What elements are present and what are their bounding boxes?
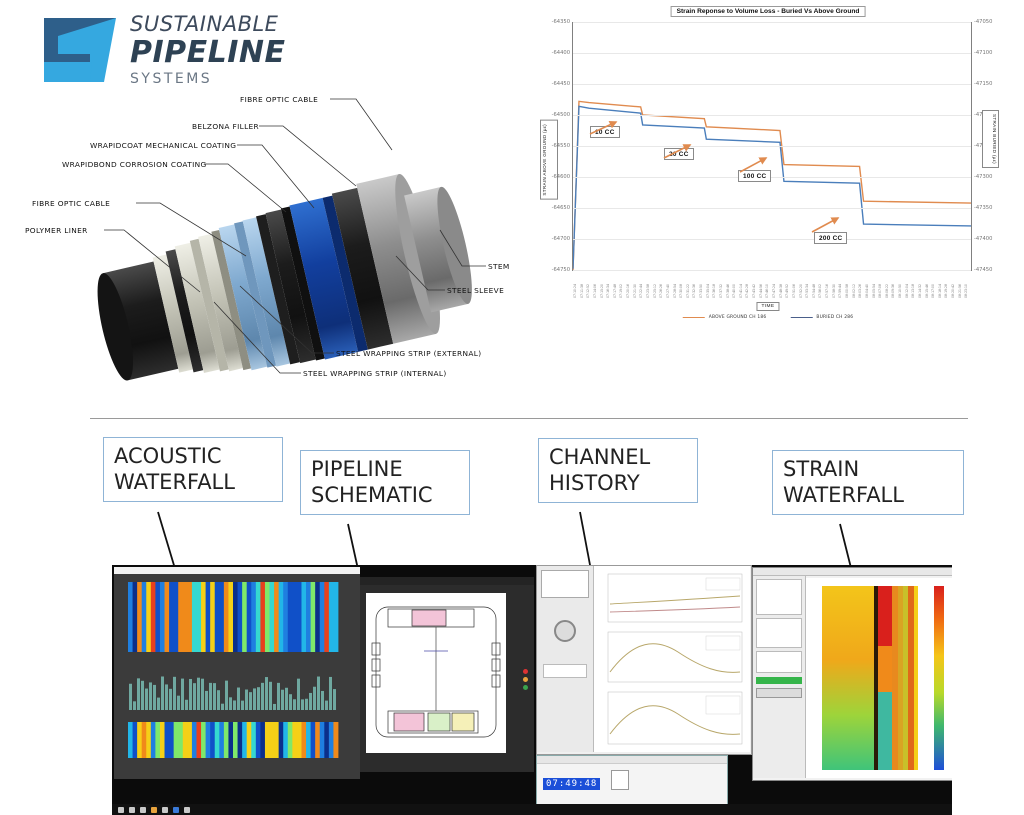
chart-x-tick: 07:16:34 [606,284,610,298]
waterfall-column [238,582,243,652]
chart-x-ticks: 07:10:2407:11:3807:12:5207:14:0607:15:20… [572,272,970,298]
acoustic-bar [325,701,328,710]
section-divider [90,418,968,419]
chart-x-tick: 07:53:34 [805,284,809,298]
chart-x-tick: 07:20:16 [626,284,630,298]
annotation-channel-history-line1: CHANNEL [549,445,687,471]
acoustic-bar [141,681,144,710]
acoustic-bar [233,700,236,710]
chart-x-tick: 07:54:48 [812,284,816,298]
chart-y-tick-left: -64650 [552,205,570,211]
waterfall-column [265,722,270,758]
waterfall-column [288,582,293,652]
pipeline-label-wrapidbond: WRAPIDBOND CORROSION COATING [62,160,207,169]
chart-y-tick-left: -64400 [552,50,570,56]
acoustic-bar [225,681,228,710]
acoustic-window-titlebar[interactable] [114,567,360,574]
chart-x-tick: 07:56:02 [818,284,822,298]
pipeline-label-wrapidcoat: WRAPIDCOAT MECHANICAL COATING [90,141,236,150]
waterfall-column [324,582,329,652]
acoustic-bar [201,679,204,710]
chart-x-tick: 08:18:14 [938,284,942,298]
waterfall-column [315,582,320,652]
waterfall-column [251,722,256,758]
chart-x-tick: 07:49:52 [785,284,789,298]
clock-display: 07:49:48 [543,778,600,790]
acoustic-bar [137,678,140,710]
waterfall-column [133,722,138,758]
chart-y-tick-right: -47050 [974,19,992,25]
waterfall-column [178,582,183,652]
waterfall-column [137,722,142,758]
legend-item-buried: BURIED CH 286 [790,315,853,320]
annotation-pipeline-schematic-line1: PIPELINE [311,457,459,483]
chart-x-axis-label: TIME [756,302,779,311]
chart-x-tick: 07:12:52 [586,284,590,298]
acoustic-bar [245,690,248,710]
chart-x-tick: 07:40:00 [732,284,736,298]
waterfall-column [270,722,275,758]
annotation-strain-waterfall-line1: STRAIN [783,457,953,483]
waterfall-column [146,722,151,758]
acoustic-bar [213,683,216,710]
waterfall-column [306,722,311,758]
waterfall-column [151,582,156,652]
acoustic-bar [333,689,336,710]
strain-window-titlebar[interactable] [753,568,952,576]
chart-x-tick: 08:23:10 [964,284,968,298]
acoustic-bar [297,679,300,710]
acoustic-bar [261,683,264,710]
annotation-channel-history: CHANNEL HISTORY [538,438,698,503]
chart-x-tick: 07:44:56 [759,284,763,298]
chart-title: Strain Reponse to Volume Loss - Buried V… [671,6,866,17]
waterfall-column [283,722,288,758]
chart-x-tick: 08:20:42 [951,284,955,298]
pipeline-label-fibre-optic-cable-top: FIBRE OPTIC CABLE [240,95,318,104]
logo-line-1: SUSTAINABLE [130,14,286,35]
acoustic-bar [161,676,164,710]
waterfall-column [324,722,329,758]
waterfall-column [174,722,179,758]
waterfall-column [142,722,147,758]
waterfall-column [215,582,220,652]
chart-x-tick: 07:30:08 [679,284,683,298]
legend-swatch-buried [790,317,812,319]
chart-y-axis-left-label: STRAIN ABOVE GROUND (µε) [540,120,558,200]
waterfall-column [242,722,247,758]
acoustic-bar [289,694,292,710]
callout-20cc: 20 CC [664,148,694,160]
chart-x-tick: 08:08:22 [885,284,889,298]
chart-y-tick-right: -47450 [974,267,992,273]
waterfall-column [183,722,188,758]
control-group-top [541,570,589,598]
channel-history-window[interactable] [536,565,752,755]
chart-x-tick: 08:00:58 [845,284,849,298]
acoustic-bar [285,688,288,710]
acoustic-bar [153,685,156,710]
acoustic-bar [129,684,132,710]
strain-response-chart: Strain Reponse to Volume Loss - Buried V… [512,0,1024,340]
acoustic-bar [269,682,272,710]
pipeline-label-steel-wrapping-internal: STEEL WRAPPING STRIP (INTERNAL) [303,369,447,378]
chart-x-tick: 07:37:32 [719,284,723,298]
logo-mark-icon [28,14,120,86]
waterfall-column [224,722,229,758]
annotation-pipeline-schematic-line2: SCHEMATIC [311,483,459,509]
chart-x-tick: 08:13:18 [911,284,915,298]
legend-swatch-above-ground [683,317,705,319]
chart-x-tick: 08:21:56 [958,284,962,298]
acoustic-bar [145,689,148,710]
schematic-window-titlebar[interactable] [360,577,534,585]
rotary-dial[interactable] [554,620,576,642]
windows-taskbar[interactable] [112,804,952,815]
chart-y-tick-right: -47150 [974,81,992,87]
waterfall-column [192,722,197,758]
waterfall-column [283,582,288,652]
waterfall-column [256,722,261,758]
annotation-acoustic-waterfall: ACOUSTIC WATERFALL [103,437,283,502]
acoustic-bar [313,687,316,710]
waterfall-column [151,722,156,758]
chart-x-tick: 07:59:44 [838,284,842,298]
waterfall-column [315,722,320,758]
chart-y-tick-left: -64550 [552,143,570,149]
chart-gridline [573,146,971,147]
legend-item-above-ground: ABOVE GROUND CH 186 [683,315,767,320]
chart-y-tick-left: -64750 [552,267,570,273]
chart-x-tick: 07:26:26 [659,284,663,298]
annotation-pipeline-schematic: PIPELINE SCHEMATIC [300,450,470,515]
waterfall-column [279,582,284,652]
chart-x-tick: 08:15:46 [925,284,929,298]
chart-gridline [573,22,971,23]
waterfall-column [187,582,192,652]
acoustic-bar [317,677,320,710]
chart-x-tick: 08:09:36 [891,284,895,298]
pid-drawing [366,593,506,753]
acoustic-bar [329,677,332,710]
acoustic-bar [273,704,276,710]
chart-plot-area [572,22,972,271]
control-group-bottom [543,664,587,678]
waterfall-column [219,582,224,652]
waterfall-column [297,582,302,652]
pipeline-label-fibre-optic-cable-lower: FIBRE OPTIC CABLE [32,199,110,208]
chart-gridline [573,115,971,116]
callout-10cc: 10 CC [590,126,620,138]
system-monitor-window[interactable]: 07:49:48 [536,755,728,805]
status-leds [523,669,528,690]
waterfall-column [333,722,338,758]
waterfall-column [215,722,220,758]
waterfall-column [228,582,233,652]
taskbar-search-icon[interactable] [129,807,135,813]
acoustic-bar [209,683,212,710]
chart-legend: ABOVE GROUND CH 186 BURIED CH 286 [683,315,854,320]
pipeline-label-steel-wrapping-external: STEEL WRAPPING STRIP (EXTERNAL) [336,349,481,358]
waterfall-column [192,582,197,652]
waterfall-column [210,582,215,652]
chart-x-tick: 07:38:46 [726,284,730,298]
logo-wordmark: SUSTAINABLE PIPELINE SYSTEMS [130,14,286,87]
taskbar-app-icon-2[interactable] [162,807,168,813]
chart-y-tick-left: -64450 [552,81,570,87]
logo-line-3: SYSTEMS [130,71,286,87]
led-green [523,685,528,690]
pipeline-label-steel-sleeve: STEEL SLEEVE [447,286,504,295]
waterfall-column [206,582,211,652]
waterfall-column [333,582,338,652]
chart-x-tick: 08:04:40 [865,284,869,298]
pipeline-cutaway-diagram: FIBRE OPTIC CABLE BELZONA FILLER WRAPIDC… [0,88,512,398]
chart-y-axis-right-label-wrap: STRAIN BURIED (µε) [982,110,999,168]
acoustic-bar [277,683,280,710]
waterfall-column [206,722,211,758]
chart-x-tick: 07:33:50 [699,284,703,298]
waterfall-column [301,582,306,652]
waterfall-column [292,582,297,652]
acoustic-bar [249,692,252,710]
waterfall-column [178,722,183,758]
chart-x-tick: 07:23:58 [646,284,650,298]
waterfall-column [155,582,160,652]
strain-waterfall-window[interactable] [752,567,952,781]
annotation-acoustic-waterfall-line1: ACOUSTIC [114,444,272,470]
company-logo: SUSTAINABLE PIPELINE SYSTEMS [22,8,292,90]
acoustic-waterfall-plots [114,574,360,779]
acoustic-waterfall-window[interactable] [114,567,360,779]
strain-param-group-1 [756,579,802,615]
annotation-channel-history-line2: HISTORY [549,471,687,497]
pipeline-label-stem: STEM [488,262,510,271]
waterfall-column [201,582,206,652]
callout-100cc: 100 CC [738,170,771,182]
chart-x-tick: 07:17:48 [613,284,617,298]
strain-waterfall-heatmap [806,578,952,778]
waterfall-column [320,722,325,758]
chart-gridline [573,270,971,271]
logo-line-2: PIPELINE [130,37,286,69]
schematic-canvas [366,593,506,753]
pipeline-schematic-window[interactable] [360,577,534,772]
acoustic-bar [221,704,224,710]
pipeline-label-belzona-filler: BELZONA FILLER [192,122,259,131]
monitoring-desktop-screenshot: 07:49:48 [112,565,952,815]
chart-x-tick: 07:43:42 [752,284,756,298]
cpu-meter [611,770,629,790]
waterfall-column [165,582,170,652]
chart-x-tick: 08:07:08 [878,284,882,298]
chart-x-tick: 07:11:38 [580,284,584,298]
waterfall-column [169,582,174,652]
chart-x-tick: 08:10:50 [898,284,902,298]
acoustic-bar [157,698,160,710]
acoustic-bar [301,699,304,710]
waterfall-column [320,582,325,652]
waterfall-column [265,582,270,652]
chart-y-tick-right: -47100 [974,50,992,56]
acoustic-bar [217,690,220,710]
acoustic-bar [309,693,312,710]
waterfall-column [247,582,252,652]
chart-x-tick: 07:25:12 [653,284,657,298]
chart-x-tick: 07:58:30 [832,284,836,298]
chart-x-tick: 07:51:06 [792,284,796,298]
chart-x-tick: 07:21:30 [633,284,637,298]
chart-x-tick: 07:31:22 [686,284,690,298]
taskbar-explorer-icon[interactable] [140,807,146,813]
waterfall-column [137,582,142,652]
taskbar-app-icon-3[interactable] [173,807,179,813]
waterfall-column [210,722,215,758]
waterfall-column [183,582,188,652]
pipeline-label-polymer-liner: POLYMER LINER [25,226,88,235]
strain-control-panel[interactable] [753,576,806,778]
acoustic-bar [173,677,176,710]
system-monitor-titlebar[interactable] [537,756,727,764]
waterfall-column [329,582,334,652]
chart-x-tick: 07:48:38 [779,284,783,298]
annotation-strain-waterfall: STRAIN WATERFALL [772,450,964,515]
acoustic-bar [293,699,296,710]
chart-x-tick: 07:15:20 [600,284,604,298]
waterfall-column [187,722,192,758]
waterfall-column [270,582,275,652]
acoustic-bar [265,677,268,710]
waterfall-column [160,582,165,652]
strain-action-button[interactable] [756,688,802,698]
waterfall-column [165,722,170,758]
chart-y-tick-left: -64600 [552,174,570,180]
acoustic-bar [185,700,188,710]
chart-y-axis-right-label: STRAIN BURIED (µε) [982,110,999,168]
waterfall-column [142,582,147,652]
chart-x-tick: 07:35:04 [706,284,710,298]
waterfall-column [133,582,138,652]
annotation-strain-waterfall-line2: WATERFALL [783,483,953,509]
chart-x-tick: 07:22:44 [639,284,643,298]
waterfall-column [169,722,174,758]
chart-x-tick: 08:12:04 [905,284,909,298]
chart-x-tick: 07:10:24 [573,284,577,298]
acoustic-bar [177,696,180,710]
waterfall-column [228,722,233,758]
chart-gridline [573,239,971,240]
chart-x-tick: 07:32:36 [692,284,696,298]
taskbar-start-icon[interactable] [118,807,124,813]
waterfall-column [160,722,165,758]
chart-x-tick: 07:36:18 [712,284,716,298]
chart-x-tick: 08:17:00 [931,284,935,298]
chart-series-above-ground [573,101,971,270]
acoustic-bar [229,697,232,710]
chart-x-tick: 07:46:10 [765,284,769,298]
waterfall-column [297,722,302,758]
waterfall-column [233,582,238,652]
waterfall-column [224,582,229,652]
chart-y-tick-left: -64700 [552,236,570,242]
taskbar-app-icon-1[interactable] [151,807,157,813]
waterfall-column [242,582,247,652]
acoustic-bar [257,687,260,710]
chart-x-tick: 07:27:40 [666,284,670,298]
acoustic-bar [205,691,208,710]
waterfall-column [306,582,311,652]
waterfall-column [155,722,160,758]
acoustic-bar [165,684,168,710]
chart-gridline [573,53,971,54]
waterfall-column [238,722,243,758]
chart-x-tick: 07:47:24 [772,284,776,298]
waterfall-column [329,722,334,758]
waterfall-column [219,722,224,758]
waterfall-column [233,722,238,758]
strain-param-group-3 [756,651,802,673]
chart-x-tick: 07:57:16 [825,284,829,298]
waterfall-column [288,722,293,758]
led-amber [523,677,528,682]
acoustic-bar [237,688,240,710]
acoustic-bar [149,682,152,710]
acoustic-bar [189,679,192,710]
acoustic-bar [181,679,184,710]
acoustic-bar [281,690,284,710]
waterfall-column [274,722,279,758]
waterfall-column [311,582,316,652]
waterfall-column [260,582,265,652]
legend-label-buried: BURIED CH 286 [816,315,853,320]
chart-x-tick: 08:03:26 [858,284,862,298]
chart-gridline [573,177,971,178]
waterfall-column [196,722,201,758]
waterfall-column [279,722,284,758]
chart-y-tick-right: -47350 [974,205,992,211]
waterfall-column [274,582,279,652]
strain-record-toggle[interactable] [756,677,802,684]
chart-x-tick: 07:41:14 [739,284,743,298]
waterfall-column [146,582,151,652]
chart-x-tick: 08:19:28 [944,284,948,298]
waterfall-column [174,582,179,652]
chart-y-tick-right: -47300 [974,174,992,180]
acoustic-bar [305,699,308,710]
acoustic-bar [321,691,324,710]
waterfall-column [292,722,297,758]
waterfall-column [301,722,306,758]
channel-history-control-panel[interactable] [537,566,594,752]
strain-param-group-2 [756,618,802,648]
waterfall-column [260,722,265,758]
acoustic-bar [169,689,172,710]
acoustic-bar [241,701,244,710]
waterfall-column [201,722,206,758]
channel-history-plots [594,566,750,752]
acoustic-bar [197,678,200,710]
chart-y-tick-left: -64350 [552,19,570,25]
acoustic-bar [253,688,256,710]
led-red [523,669,528,674]
waterfall-column [247,722,252,758]
annotation-acoustic-waterfall-line2: WATERFALL [114,470,272,496]
waterfall-column [196,582,201,652]
chart-x-tick: 07:14:06 [593,284,597,298]
chart-gridline [573,208,971,209]
taskbar-app-icon-4[interactable] [184,807,190,813]
callout-200cc: 200 CC [814,232,847,244]
